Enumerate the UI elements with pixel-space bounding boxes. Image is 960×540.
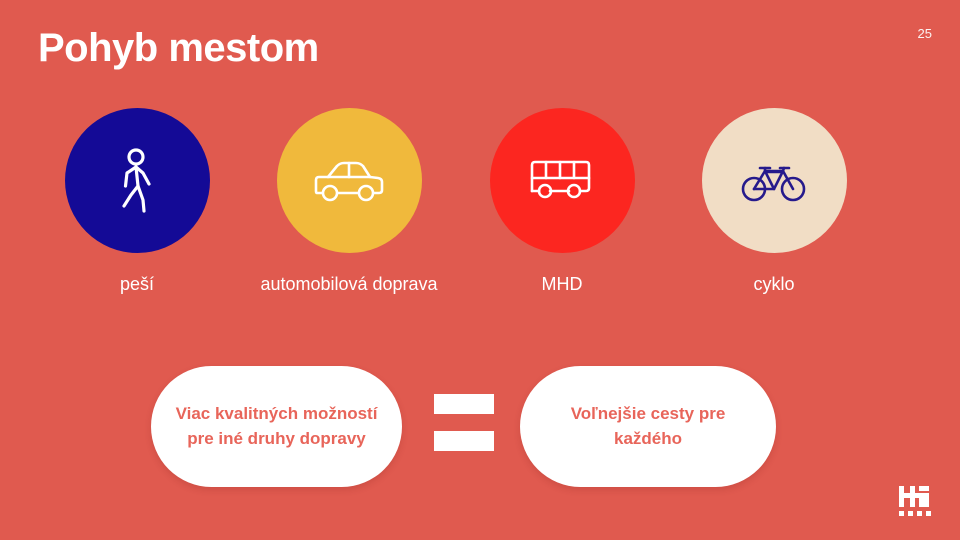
equals-bar-top bbox=[434, 394, 494, 414]
transport-modes-row: peší automobilová doprava bbox=[0, 108, 960, 323]
brand-logo bbox=[897, 483, 937, 518]
mode-label-pedestrian: peší bbox=[47, 273, 227, 296]
equals-sign-icon bbox=[434, 394, 494, 458]
mode-item-bus: MHD bbox=[472, 108, 652, 296]
equals-bar-bottom bbox=[434, 431, 494, 451]
benefit-pill-left-text: Viac kvalitných možností pre iné druhy d… bbox=[151, 402, 402, 451]
page-number: 25 bbox=[918, 26, 932, 41]
pedestrian-icon bbox=[111, 148, 163, 214]
mode-circle-car bbox=[277, 108, 422, 253]
mode-circle-pedestrian bbox=[65, 108, 210, 253]
mode-item-pedestrian: peší bbox=[47, 108, 227, 296]
mode-label-car: automobilová doprava bbox=[259, 273, 439, 296]
pixel-hh-logo-icon bbox=[897, 483, 937, 518]
mode-circle-bus bbox=[490, 108, 635, 253]
mode-label-bus: MHD bbox=[472, 273, 652, 296]
benefit-pill-right-text: Voľnejšie cesty pre každého bbox=[520, 402, 776, 451]
bus-icon bbox=[529, 158, 595, 204]
bicycle-icon bbox=[741, 159, 807, 203]
mode-label-bicycle: cyklo bbox=[684, 273, 864, 296]
mode-circle-bicycle bbox=[702, 108, 847, 253]
car-icon bbox=[312, 158, 386, 204]
benefit-pill-right: Voľnejšie cesty pre každého bbox=[520, 366, 776, 487]
page-title: Pohyb mestom bbox=[38, 26, 319, 71]
equation-row: Viac kvalitných možností pre iné druhy d… bbox=[0, 366, 960, 488]
mode-item-car: automobilová doprava bbox=[259, 108, 439, 296]
benefit-pill-left: Viac kvalitných možností pre iné druhy d… bbox=[151, 366, 402, 487]
slide-canvas: Pohyb mestom 25 peší bbox=[0, 0, 960, 540]
mode-item-bicycle: cyklo bbox=[684, 108, 864, 296]
